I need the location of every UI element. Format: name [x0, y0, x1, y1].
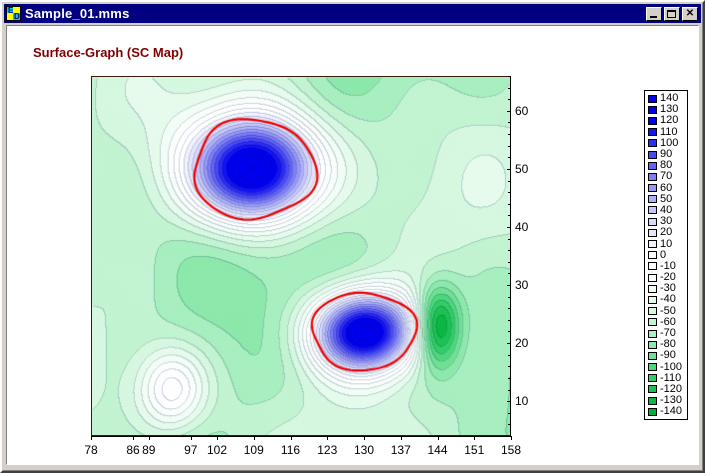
legend-swatch [648, 195, 657, 203]
y-minor-tick [508, 355, 511, 356]
y-minor-tick [508, 366, 511, 367]
x-tick-label: 89 [142, 443, 155, 457]
color-legend[interactable]: 1401301201101009080706050403020100-10-20… [644, 90, 688, 420]
legend-swatch [648, 296, 657, 304]
close-icon: ✕ [686, 8, 694, 20]
x-tick-label: 109 [244, 443, 264, 457]
legend-swatch [648, 173, 657, 181]
y-minor-tick [508, 436, 511, 437]
x-tick [91, 436, 92, 440]
legend-swatch [648, 341, 657, 349]
application-window: ED Sample_01.mms ✕ Surface-Graph (SC Map… [0, 0, 705, 473]
legend-row[interactable]: 20 [648, 227, 685, 238]
legend-swatch [648, 397, 657, 405]
legend-swatch [648, 318, 657, 326]
y-minor-tick [508, 134, 511, 135]
y-tick [507, 227, 511, 228]
x-tick [438, 436, 439, 440]
client-area: Surface-Graph (SC Map) 78868997102109116… [6, 25, 699, 465]
legend-swatch [648, 330, 657, 338]
x-tick [133, 436, 134, 440]
x-tick [511, 436, 512, 440]
legend-row[interactable]: 10 [648, 238, 685, 249]
heatmap-canvas [92, 77, 510, 435]
y-axis-line [510, 76, 511, 436]
y-minor-tick [508, 192, 511, 193]
y-minor-tick [508, 378, 511, 379]
y-minor-tick [508, 331, 511, 332]
legend-label: 60 [660, 183, 672, 194]
x-axis-line [91, 436, 511, 437]
y-minor-tick [508, 308, 511, 309]
legend-swatch [648, 251, 657, 259]
legend-swatch [648, 385, 657, 393]
y-minor-tick [508, 122, 511, 123]
legend-swatch [648, 128, 657, 136]
y-minor-tick [508, 146, 511, 147]
y-minor-tick [508, 157, 511, 158]
y-tick-label: 50 [515, 162, 528, 176]
legend-row[interactable]: -140 [648, 406, 685, 417]
legend-label: -140 [660, 406, 682, 417]
legend-row[interactable]: 60 [648, 183, 685, 194]
legend-label: -90 [660, 350, 676, 361]
legend-swatch [648, 139, 657, 147]
y-minor-tick [508, 250, 511, 251]
window-title: Sample_01.mms [25, 6, 646, 21]
y-tick [507, 285, 511, 286]
legend-row[interactable]: -90 [648, 350, 685, 361]
legend-swatch [648, 184, 657, 192]
legend-swatch [648, 117, 657, 125]
maximize-button[interactable] [664, 7, 680, 21]
y-minor-tick [508, 273, 511, 274]
legend-row[interactable]: 120 [648, 115, 685, 126]
y-tick [507, 169, 511, 170]
x-tick [327, 436, 328, 440]
y-minor-tick [508, 76, 511, 77]
x-tick-label: 158 [501, 443, 521, 457]
y-minor-tick [508, 181, 511, 182]
x-tick [191, 436, 192, 440]
x-tick-label: 97 [184, 443, 197, 457]
legend-swatch [648, 262, 657, 270]
x-tick [364, 436, 365, 440]
legend-swatch [648, 363, 657, 371]
y-tick [507, 401, 511, 402]
legend-label: -40 [660, 294, 676, 305]
legend-swatch [648, 274, 657, 282]
legend-label: 10 [660, 239, 672, 250]
minimize-button[interactable] [646, 7, 662, 21]
x-tick-label: 144 [427, 443, 447, 457]
legend-label: -100 [660, 362, 682, 373]
x-tick [149, 436, 150, 440]
legend-swatch [648, 206, 657, 214]
legend-swatch [648, 352, 657, 360]
title-bar[interactable]: ED Sample_01.mms ✕ [4, 4, 701, 23]
legend-swatch [648, 151, 657, 159]
window-button-group: ✕ [646, 7, 698, 21]
legend-row[interactable]: 70 [648, 171, 685, 182]
legend-label: 110 [660, 127, 678, 138]
legend-row[interactable]: -40 [648, 294, 685, 305]
legend-swatch [648, 374, 657, 382]
x-tick-label: 137 [391, 443, 411, 457]
legend-label: -50 [660, 306, 676, 317]
x-tick-label: 86 [126, 443, 139, 457]
legend-swatch [648, 95, 657, 103]
x-tick [254, 436, 255, 440]
legend-swatch [648, 162, 657, 170]
x-tick-label: 130 [354, 443, 374, 457]
surface-graph-plot[interactable] [91, 76, 511, 436]
y-tick-label: 30 [515, 278, 528, 292]
x-tick-label: 151 [464, 443, 484, 457]
x-tick-label: 116 [281, 443, 300, 457]
y-minor-tick [508, 99, 511, 100]
legend-swatch [648, 106, 657, 114]
y-minor-tick [508, 297, 511, 298]
legend-row[interactable]: -100 [648, 362, 685, 373]
legend-label: 20 [660, 227, 672, 238]
legend-swatch [648, 408, 657, 416]
x-tick [474, 436, 475, 440]
y-minor-tick [508, 88, 511, 89]
x-tick [217, 436, 218, 440]
legend-swatch [648, 229, 657, 237]
document-ed-icon: ED [6, 6, 21, 21]
y-minor-tick [508, 424, 511, 425]
y-tick-label: 60 [515, 104, 528, 118]
chart-title: Surface-Graph (SC Map) [33, 45, 183, 60]
legend-swatch [648, 240, 657, 248]
y-tick [507, 343, 511, 344]
x-tick-label: 78 [84, 443, 97, 457]
legend-label: 120 [660, 115, 678, 126]
y-tick-label: 40 [515, 220, 528, 234]
y-tick-label: 20 [515, 336, 528, 350]
legend-swatch [648, 218, 657, 226]
legend-swatch [648, 307, 657, 315]
x-tick-label: 102 [207, 443, 227, 457]
y-minor-tick [508, 390, 511, 391]
x-tick [401, 436, 402, 440]
legend-swatch [648, 285, 657, 293]
y-minor-tick [508, 320, 511, 321]
close-button[interactable]: ✕ [682, 7, 698, 21]
y-minor-tick [508, 204, 511, 205]
y-tick-label: 10 [515, 394, 528, 408]
y-minor-tick [508, 262, 511, 263]
y-minor-tick [508, 239, 511, 240]
legend-label: 70 [660, 171, 672, 182]
x-tick [291, 436, 292, 440]
y-minor-tick [508, 413, 511, 414]
x-tick-label: 123 [317, 443, 337, 457]
y-minor-tick [508, 215, 511, 216]
y-tick [507, 111, 511, 112]
